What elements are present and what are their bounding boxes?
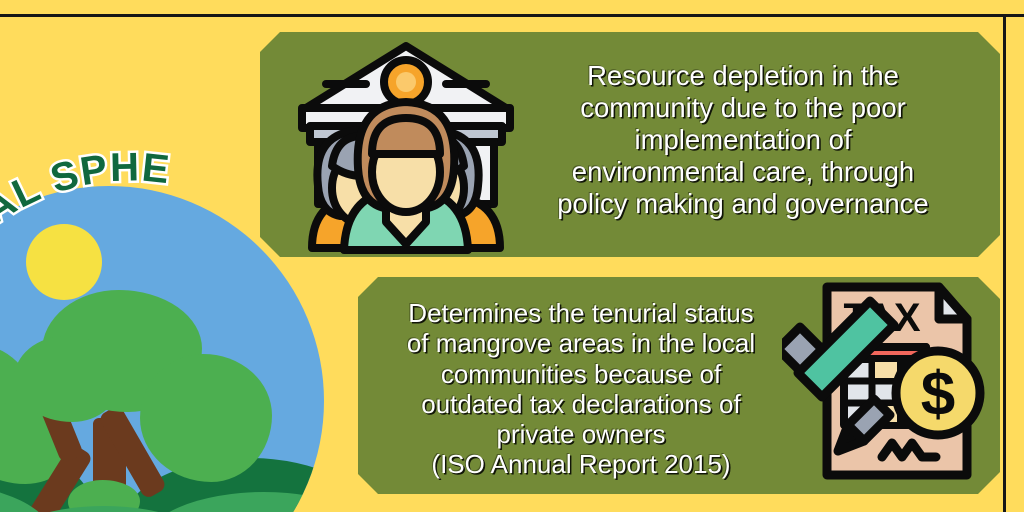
tree-foliage-right — [140, 354, 272, 482]
infographic-slide: ON POLITICAL SPHERE Resource depletion i… — [0, 0, 1024, 512]
panel-bottom-text: Determines the tenurial status of mangro… — [366, 298, 796, 480]
sun-icon — [26, 224, 102, 300]
frame-top-line — [0, 14, 1024, 17]
frame-right-line — [1003, 14, 1006, 512]
dollar-sign-icon: $ — [921, 360, 955, 429]
tax-document-icon: TAX $ — [782, 275, 997, 487]
tree-canopy-main-left — [14, 336, 122, 422]
government-building-people-icon — [292, 36, 520, 256]
panel-top-text: Resource depletion in the community due … — [508, 60, 978, 220]
